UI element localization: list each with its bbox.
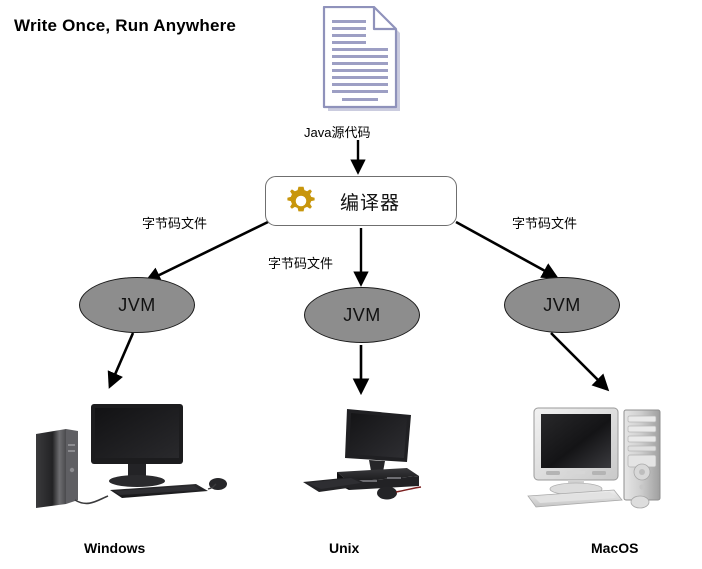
page-title: Write Once, Run Anywhere: [14, 16, 236, 36]
desktop-computer-beige-icon: [522, 398, 670, 518]
jvm-label: JVM: [543, 295, 581, 316]
document-icon: [320, 6, 404, 114]
source-doc-label: Java源代码: [304, 122, 370, 141]
desktop-computer-black-icon: [28, 396, 233, 514]
edge-label-bytecode-right: 字节码文件: [512, 213, 577, 232]
jvm-label: JVM: [343, 305, 381, 326]
jvm-label: JVM: [118, 295, 156, 316]
arrow-jvm-macos-to-machine: [551, 333, 607, 389]
jvm-node-windows[interactable]: JVM: [79, 277, 195, 333]
os-caption-unix: Unix: [329, 540, 359, 556]
os-caption-macos: MacOS: [591, 540, 638, 556]
edge-label-bytecode-middle: 字节码文件: [268, 253, 333, 272]
os-caption-windows: Windows: [84, 540, 145, 556]
desktop-computer-black-icon: [295, 404, 435, 508]
compiler-node[interactable]: 编译器: [265, 176, 457, 226]
jvm-node-macos[interactable]: JVM: [504, 277, 620, 333]
compiler-label: 编译器: [340, 188, 400, 215]
jvm-node-unix[interactable]: JVM: [304, 287, 420, 343]
gear-icon: [284, 184, 318, 218]
arrow-jvm-windows-to-machine: [110, 333, 133, 386]
diagram-canvas: Write Once, Run Anywhere: [0, 0, 702, 569]
edge-label-bytecode-left: 字节码文件: [142, 213, 207, 232]
